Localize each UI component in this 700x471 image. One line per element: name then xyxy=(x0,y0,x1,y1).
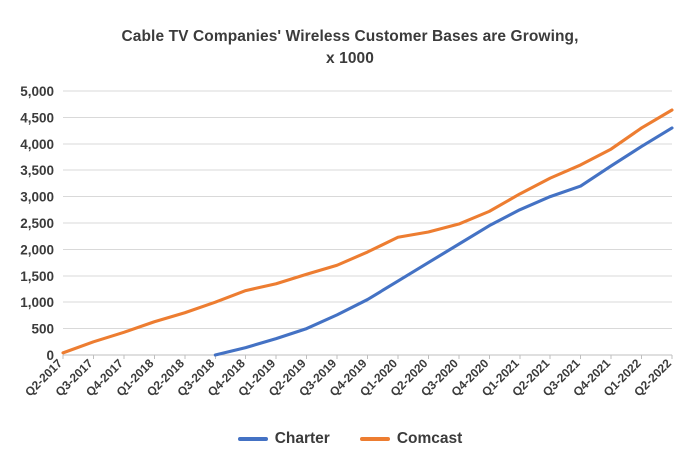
legend-label: Comcast xyxy=(397,430,462,448)
series-line-comcast xyxy=(63,110,672,353)
y-axis-tick-label: 500 xyxy=(31,322,54,337)
chart-container: Cable TV Companies' Wireless Customer Ba… xyxy=(0,0,700,471)
y-axis-tick-label: 3,500 xyxy=(20,163,54,178)
legend-item-comcast[interactable]: Comcast xyxy=(360,430,462,448)
y-axis-tick-label: 5,000 xyxy=(20,84,54,99)
legend-swatch-charter xyxy=(238,437,268,440)
x-axis-labels: Q2-2017Q3-2017Q4-2017Q1-2018Q2-2018Q3-20… xyxy=(22,356,674,399)
y-axis-tick-label: 3,000 xyxy=(20,190,54,205)
y-axis-labels: 05001,0001,5002,0002,5003,0003,5004,0004… xyxy=(20,84,54,363)
gridlines-group xyxy=(63,91,672,355)
series-line-charter xyxy=(215,128,672,355)
legend-item-charter[interactable]: Charter xyxy=(238,430,330,448)
legend-swatch-comcast xyxy=(360,437,390,440)
y-axis-tick-label: 1,500 xyxy=(20,269,54,284)
y-axis-tick-label: 4,000 xyxy=(20,137,54,152)
chart-legend: CharterComcast xyxy=(0,430,700,448)
y-axis-tick-label: 4,500 xyxy=(20,110,54,125)
y-axis-tick-label: 1,000 xyxy=(20,295,54,310)
y-axis-tick-label: 2,500 xyxy=(20,216,54,231)
legend-label: Charter xyxy=(275,430,330,448)
series-lines xyxy=(63,110,672,355)
y-axis-tick-label: 2,000 xyxy=(20,242,54,257)
x-axis-tickmarks xyxy=(63,355,672,359)
plot-area: 05001,0001,5002,0002,5003,0003,5004,0004… xyxy=(0,0,700,430)
